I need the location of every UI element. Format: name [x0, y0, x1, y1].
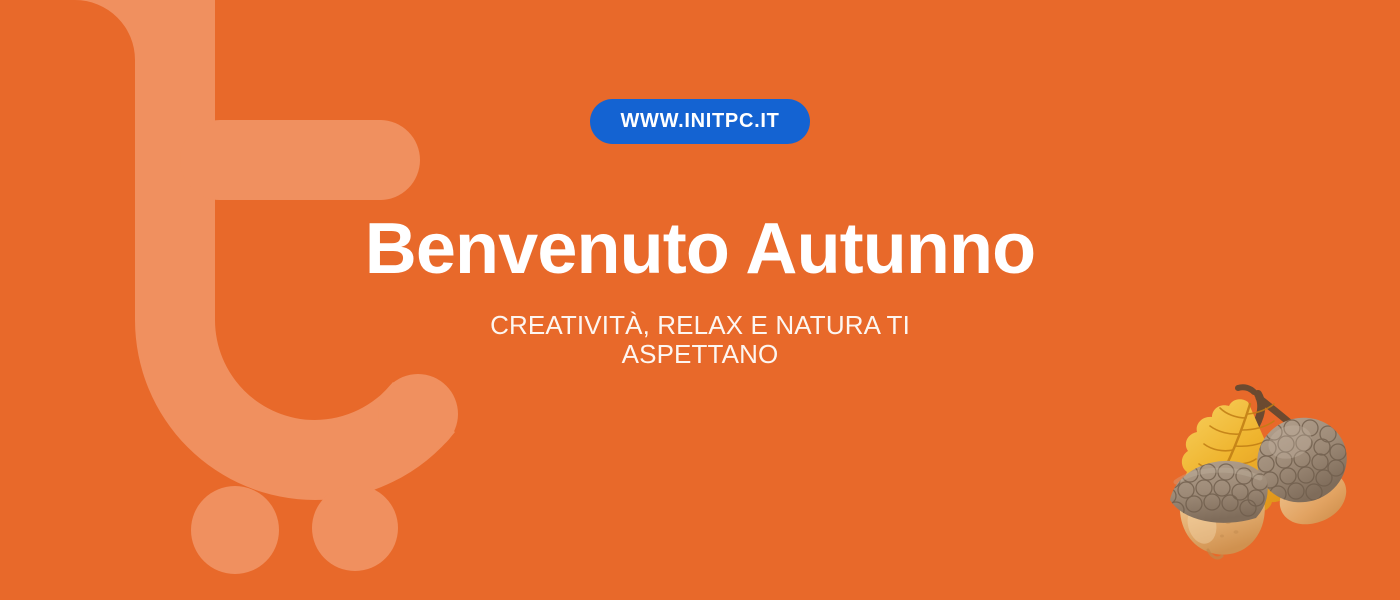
- page-subtitle: CREATIVITÀ, RELAX E NATURA TI ASPETTANO: [490, 285, 910, 369]
- autumn-promo-banner: WWW.INITPC.IT Benvenuto Autunno CREATIVI…: [0, 0, 1400, 600]
- website-badge[interactable]: WWW.INITPC.IT: [590, 99, 809, 144]
- banner-content: WWW.INITPC.IT Benvenuto Autunno CREATIVI…: [0, 0, 1400, 600]
- page-title: Benvenuto Autunno: [365, 144, 1036, 285]
